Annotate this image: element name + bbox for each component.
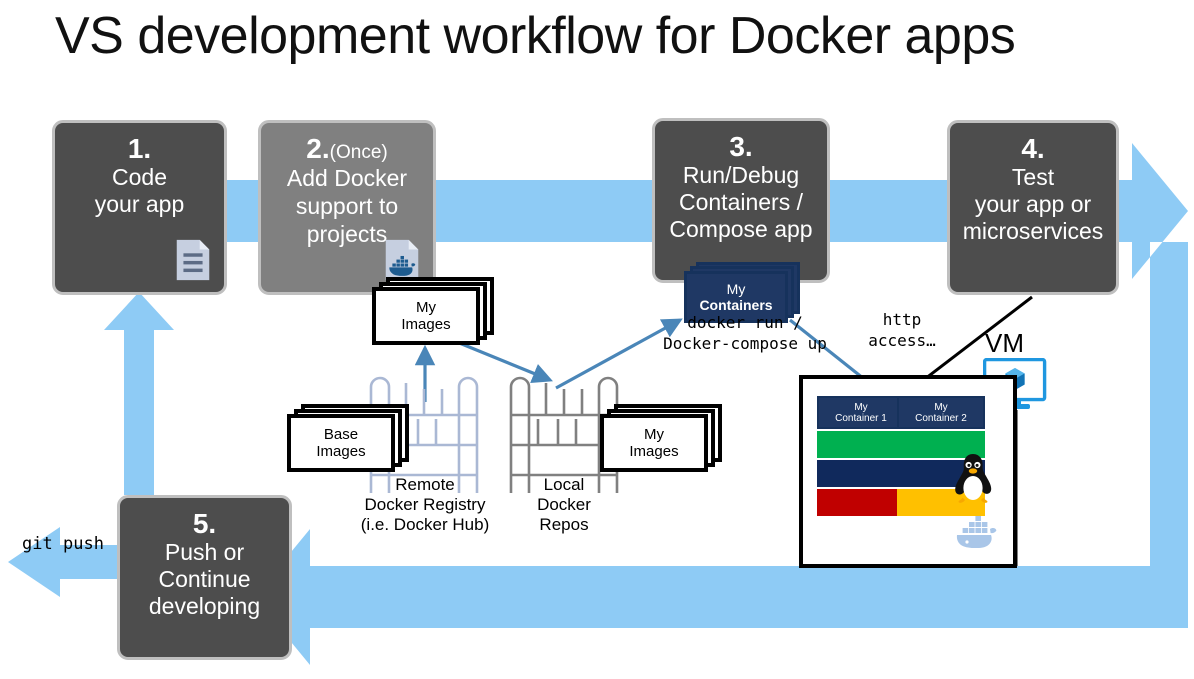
container-header: MyContainer 1 xyxy=(817,396,905,429)
docker-run-annotation: docker run / Docker-compose up xyxy=(645,313,845,355)
artifact-my-containers[interactable]: MyContainers xyxy=(684,262,796,320)
step-line-2: your app xyxy=(95,191,185,218)
container-layer-red xyxy=(817,489,905,516)
step-line-2: Containers / xyxy=(679,189,803,216)
http-access-annotation: http access… xyxy=(852,310,952,352)
artifact-base-images[interactable]: BaseImages xyxy=(287,404,401,466)
step-line-2: Continue xyxy=(158,566,250,593)
remote-registry-caption: Remote Docker Registry (i.e. Docker Hub) xyxy=(340,475,510,535)
arrow-my-images-to-local-repos xyxy=(452,340,550,380)
step-line-3: microservices xyxy=(963,218,1104,245)
artifact-label: MyImages xyxy=(600,414,708,472)
step-number-value: 2. xyxy=(306,133,329,164)
step-card-1[interactable]: 1. Code your app xyxy=(52,120,227,295)
step-card-2[interactable]: 2.(Once) Add Docker support to projects xyxy=(258,120,436,295)
step-line-1: Test xyxy=(1012,164,1054,191)
step-line-2: support to xyxy=(296,192,398,220)
page-title: VS development workflow for Docker apps xyxy=(55,8,1155,65)
step-line-3: projects xyxy=(307,220,388,248)
step-number: 3. xyxy=(729,131,752,162)
diagram-canvas: VS development workflow for Docker apps xyxy=(0,0,1194,679)
step-line-3: developing xyxy=(149,593,260,620)
step-card-4[interactable]: 4. Test your app or microservices xyxy=(947,120,1119,295)
artifact-label: BaseImages xyxy=(287,414,395,472)
linux-penguin-icon xyxy=(952,452,994,506)
document-icon xyxy=(174,238,212,282)
container-layer-green xyxy=(817,431,905,458)
step-card-3[interactable]: 3. Run/Debug Containers / Compose app xyxy=(652,118,830,283)
continue-loop-arrow xyxy=(104,292,174,495)
docker-whale-icon xyxy=(955,510,1007,550)
container-layer-navy xyxy=(817,460,905,487)
artifact-my-images-top[interactable]: MyImages xyxy=(372,277,488,339)
step-line-1: Code xyxy=(112,164,167,191)
step-number: 2.(Once) xyxy=(306,133,387,164)
vm-label: VM xyxy=(985,328,1024,359)
step-once-label: (Once) xyxy=(330,142,388,163)
docker-document-icon xyxy=(383,238,421,282)
git-push-annotation: git push xyxy=(8,533,118,555)
step-number: 4. xyxy=(1021,133,1044,164)
artifact-label: MyImages xyxy=(372,287,480,345)
step-line-1: Add Docker xyxy=(287,164,407,192)
step-line-1: Run/Debug xyxy=(683,162,799,189)
step-card-5[interactable]: 5. Push or Continue developing xyxy=(117,495,292,660)
step-line-1: Push or xyxy=(165,539,244,566)
step-line-2: your app or xyxy=(975,191,1091,218)
step-number: 1. xyxy=(128,133,151,164)
step-number: 5. xyxy=(193,508,216,539)
artifact-my-images-local[interactable]: MyImages xyxy=(600,404,714,466)
container-header: MyContainer 2 xyxy=(897,396,985,429)
local-repos-caption: Local Docker Repos xyxy=(494,475,634,535)
step-line-3: Compose app xyxy=(669,216,812,243)
